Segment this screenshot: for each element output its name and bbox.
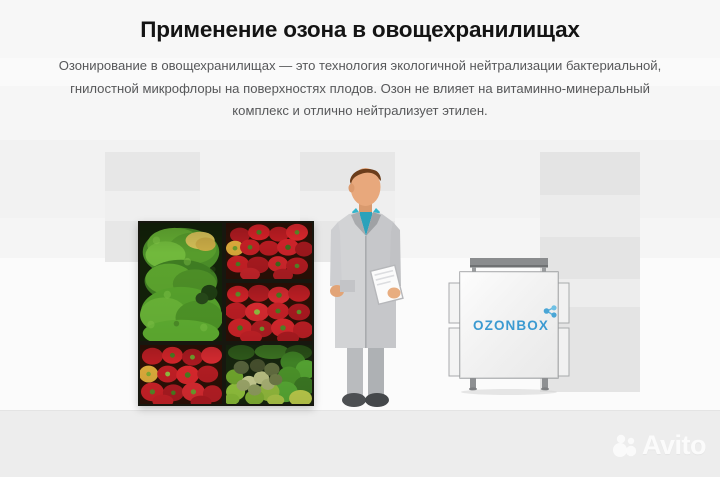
image-canvas: Применение озона в овощехранилищах Озони… bbox=[0, 0, 720, 477]
top-rail bbox=[470, 258, 548, 265]
ozone-generator-machine: OZONBOX bbox=[448, 256, 570, 396]
page-title: Применение озона в овощехранилищах bbox=[0, 16, 720, 43]
ozonbox-wordmark: OZONBOX bbox=[473, 318, 549, 333]
crate-greens bbox=[138, 221, 224, 343]
red-peppers-illustration bbox=[226, 223, 312, 279]
header-block: Применение озона в овощехранилищах Озони… bbox=[0, 0, 720, 123]
red-peppers-illustration bbox=[226, 283, 312, 341]
lab-technician-figure bbox=[318, 160, 414, 410]
page-subtitle: Озонирование в овощехранилищах — это тех… bbox=[40, 55, 680, 123]
crate-green-peppers bbox=[224, 343, 314, 406]
crate-red-bottom bbox=[138, 343, 224, 406]
leg-right bbox=[542, 378, 548, 388]
floor-edge-line bbox=[0, 410, 720, 411]
vegetable-crates-group bbox=[138, 221, 314, 406]
leafy-greens-illustration bbox=[140, 223, 222, 341]
red-peppers-illustration bbox=[140, 345, 222, 404]
ozone-generator-illustration: OZONBOX bbox=[448, 256, 570, 396]
crate-red-top bbox=[224, 221, 314, 281]
shoe-right bbox=[365, 393, 389, 407]
lab-technician-illustration bbox=[318, 160, 414, 410]
shoe-left bbox=[342, 393, 366, 407]
crate-red-middle bbox=[224, 281, 314, 343]
leg-left bbox=[470, 378, 476, 388]
green-peppers-illustration bbox=[226, 345, 312, 404]
